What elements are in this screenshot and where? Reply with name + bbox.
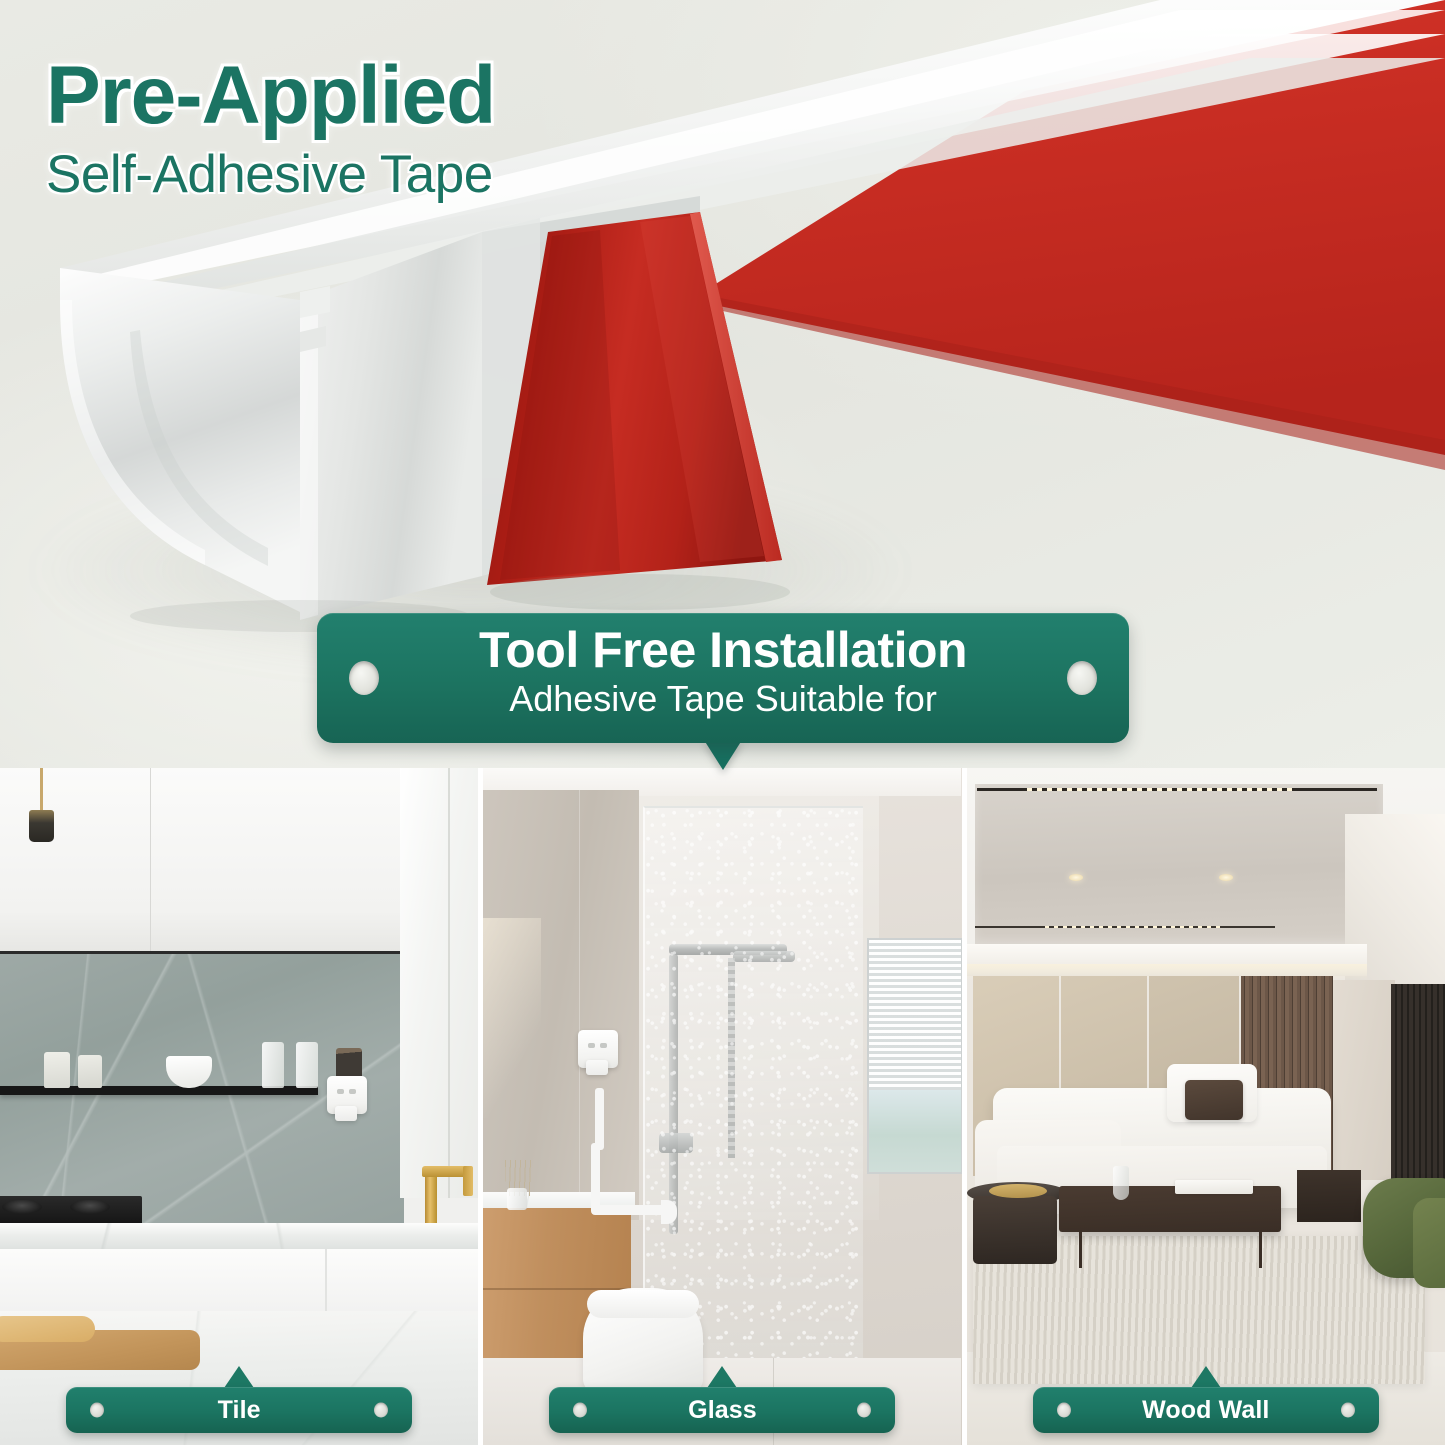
tool-free-installation-banner: Tool Free Installation Adhesive Tape Sui… xyxy=(317,613,1129,743)
caption-screw-hole-left-icon xyxy=(1057,1403,1071,1418)
kitchen-wall-column xyxy=(400,768,478,1198)
caption-label-glass: Glass xyxy=(688,1396,757,1425)
open-book xyxy=(1175,1180,1253,1194)
caption-plaque-wood-wall: Wood Wall xyxy=(1033,1387,1379,1433)
caption-pointer-icon xyxy=(224,1366,254,1388)
surface-photo-strip: Tile xyxy=(0,768,1445,1445)
coffee-table-leg-right xyxy=(1259,1230,1262,1268)
ceramic-vase-1 xyxy=(44,1052,70,1088)
surface-photo-wood-wall: Wood Wall xyxy=(967,768,1445,1445)
screw-hole-right-icon xyxy=(1067,661,1097,695)
caption-plaque-tile: Tile xyxy=(66,1387,412,1433)
banner-pointer-icon xyxy=(704,740,742,770)
caption-pointer-icon xyxy=(1191,1366,1221,1388)
product-marketing-image: Pre-Applied Self-Adhesive Tape Tool Free… xyxy=(0,0,1445,1445)
tray-ceiling xyxy=(975,784,1383,944)
surface-photo-glass: Glass xyxy=(483,768,961,1445)
screw-hole-left-icon xyxy=(349,661,379,695)
bidet-spray-pipe-lower xyxy=(591,1143,600,1213)
wall-light-wash xyxy=(483,918,541,1118)
wall-outlet xyxy=(327,1076,367,1114)
caption-glass: Glass xyxy=(549,1379,895,1433)
green-velvet-armchair-back xyxy=(1413,1198,1445,1288)
linear-track-light-upper xyxy=(977,788,1377,791)
round-side-table xyxy=(973,1196,1057,1264)
reed-diffuser-bottle xyxy=(507,1188,527,1210)
outlet-slot-left-icon xyxy=(588,1043,595,1048)
surface-photo-tile: Tile xyxy=(0,768,478,1445)
recessed-downlight-2 xyxy=(1219,874,1233,881)
pendant-light-cord xyxy=(40,768,43,811)
outlet-slot-right-icon xyxy=(349,1089,356,1094)
marble-countertop xyxy=(0,1223,478,1249)
outlet-plug xyxy=(335,1106,357,1121)
gold-faucet-head xyxy=(463,1166,473,1196)
caption-screw-hole-left-icon xyxy=(90,1403,104,1418)
window-blinds xyxy=(869,940,961,1090)
glass-jar-2 xyxy=(296,1042,318,1088)
coffee-table-leg-left xyxy=(1079,1230,1082,1268)
caption-label-wood-wall: Wood Wall xyxy=(1142,1396,1269,1425)
caption-screw-hole-right-icon xyxy=(1341,1403,1355,1418)
outlet-slot-left-icon xyxy=(337,1089,344,1094)
outlet-slot-right-icon xyxy=(600,1043,607,1048)
brown-accent-pillow xyxy=(1185,1080,1243,1120)
glass-carafe xyxy=(1113,1166,1129,1200)
banner-text-block: Tool Free Installation Adhesive Tape Sui… xyxy=(395,625,1051,719)
caption-screw-hole-right-icon xyxy=(374,1403,388,1418)
caption-label-tile: Tile xyxy=(218,1396,261,1425)
pendant-light xyxy=(29,810,54,842)
recessed-downlight-1 xyxy=(1069,874,1083,881)
caption-screw-hole-right-icon xyxy=(857,1403,871,1418)
outlet-plug xyxy=(586,1060,608,1075)
hero-subtitle: Self-Adhesive Tape xyxy=(46,148,495,201)
banner-plaque: Tool Free Installation Adhesive Tape Sui… xyxy=(317,613,1129,743)
hero-headings: Pre-Applied Self-Adhesive Tape xyxy=(46,56,495,201)
glass-jar-1 xyxy=(262,1042,284,1088)
caption-plaque-glass: Glass xyxy=(549,1387,895,1433)
hero-title: Pre-Applied xyxy=(46,56,495,136)
side-wall-right xyxy=(1333,980,1395,1180)
brass-bowl xyxy=(989,1184,1047,1198)
window-outside-view xyxy=(869,1090,961,1172)
white-upper-cabinets xyxy=(0,768,412,954)
dark-side-table xyxy=(1297,1170,1361,1222)
caption-tile: Tile xyxy=(66,1379,412,1433)
linear-track-light-lower xyxy=(975,926,1275,928)
cooktop-burner-2 xyxy=(70,1200,110,1214)
banner-headline: Tool Free Installation xyxy=(395,625,1051,676)
caption-pointer-icon xyxy=(707,1366,737,1388)
bidet-spray-pipe-upper xyxy=(595,1088,604,1150)
bread-loaf xyxy=(0,1316,95,1342)
toilet-lid xyxy=(587,1290,699,1318)
cooktop-burner-1 xyxy=(2,1200,42,1214)
lower-cabinets xyxy=(0,1249,478,1311)
banner-subline: Adhesive Tape Suitable for xyxy=(395,679,1051,719)
caption-wood-wall: Wood Wall xyxy=(1033,1379,1379,1433)
ceramic-vase-2 xyxy=(78,1055,102,1088)
wall-outlet xyxy=(578,1030,618,1068)
caption-screw-hole-left-icon xyxy=(573,1403,587,1418)
